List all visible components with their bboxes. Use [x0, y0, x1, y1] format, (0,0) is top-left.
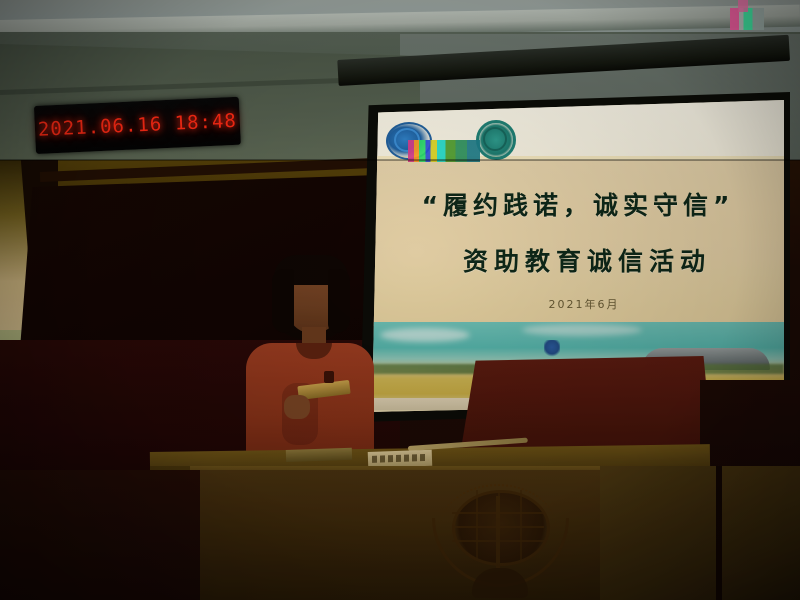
teal-logo-inner-ring-icon	[483, 127, 507, 151]
slide-logo-row	[378, 118, 558, 162]
rostrum-right-edge	[716, 466, 722, 600]
lecture-hall-photo: “履约践诺，诚实守信” 资助教育诚信活动 2021年6月	[0, 0, 800, 600]
presenter-badge	[324, 371, 334, 383]
presenter-hair-right	[328, 269, 350, 333]
sapling-shape	[544, 340, 560, 358]
slide-date-line: 2021年6月	[372, 296, 784, 312]
rostrum-right-panel	[600, 466, 800, 600]
top-right-compression-glitch-2	[738, 0, 748, 12]
notebook	[286, 448, 352, 462]
presenter-hand	[284, 395, 310, 419]
cloud-shape	[380, 328, 470, 342]
rostrum-left-shadow	[0, 470, 200, 600]
presenter	[228, 255, 388, 470]
slide-title-line-2: 资助教育诚信活动	[372, 242, 784, 278]
rainbow-compression-glitch	[408, 140, 480, 162]
led-clock-text: 2021.06.16 18:48	[37, 110, 237, 141]
presenter-hair-left	[272, 269, 294, 333]
cloud-shape	[522, 324, 642, 336]
name-card-text	[372, 454, 428, 463]
institution-emblem	[418, 482, 578, 600]
slide-title-line-1: “履约践诺，诚实守信”	[372, 186, 784, 222]
led-wall-clock: 2021.06.16 18:48	[34, 97, 241, 154]
